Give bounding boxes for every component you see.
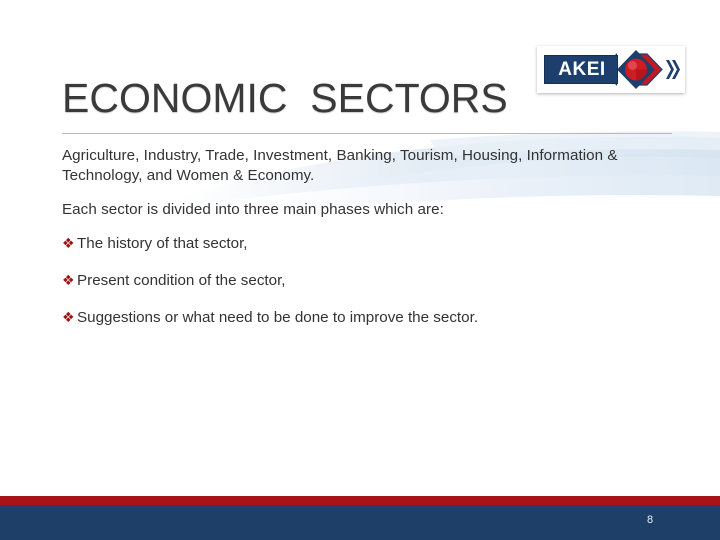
list-item-label: The history of that sector, [77, 234, 662, 254]
intro-paragraph: Agriculture, Industry, Trade, Investment… [62, 146, 662, 186]
list-item: ❖ Present condition of the sector, [62, 271, 662, 291]
list-item: ❖ The history of that sector, [62, 234, 662, 254]
sphere-highlight-icon [628, 61, 637, 70]
chevron-marks-icon [666, 60, 680, 79]
diamond-bullet-icon: ❖ [62, 308, 77, 328]
title-divider [62, 133, 672, 134]
list-item-label: Suggestions or what need to be done to i… [77, 308, 662, 328]
list-item: ❖ Suggestions or what need to be done to… [62, 308, 662, 328]
footer-navy-bar [0, 505, 720, 540]
footer-red-bar [0, 496, 720, 505]
diamond-bullet-icon: ❖ [62, 234, 77, 254]
page-title: ECONOMIC SECTORS [62, 74, 662, 122]
diamond-bullet-icon: ❖ [62, 271, 77, 291]
slide-body: Agriculture, Industry, Trade, Investment… [62, 146, 662, 345]
lead-in-paragraph: Each sector is divided into three main p… [62, 200, 662, 220]
page-number: 8 [620, 514, 680, 526]
list-item-label: Present condition of the sector, [77, 271, 662, 291]
slide-canvas: AKEI ECONOMIC SECTORS Agriculture, Indus… [0, 0, 720, 540]
